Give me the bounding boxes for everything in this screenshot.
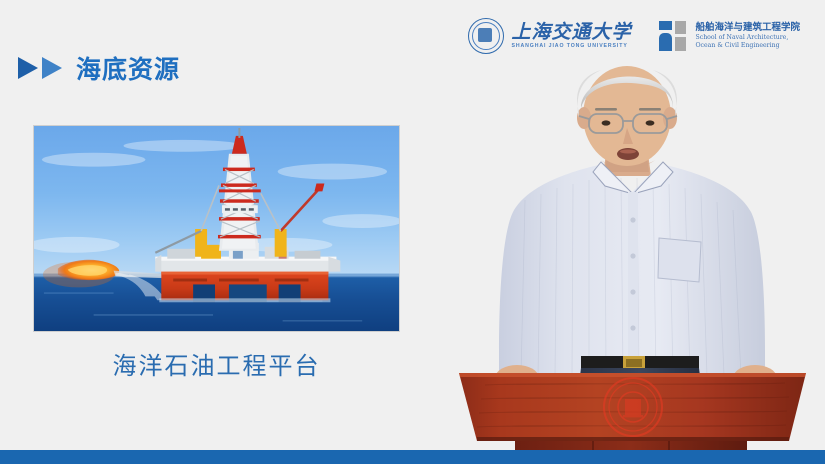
- double-triangle-icon: [18, 57, 62, 79]
- slide-title-row: 海底资源: [18, 50, 180, 86]
- school-mark-block-4: [675, 37, 686, 51]
- page-title: 海底资源: [76, 50, 180, 86]
- sjtu-seal-icon: [468, 18, 504, 54]
- school-name-cn: 船舶海洋与建筑工程学院: [695, 22, 800, 34]
- university-name-en: SHANGHAI JIAO TONG UNIVERSITY: [511, 42, 631, 50]
- university-logo-text: 上海交通大学 SHANGHAI JIAO TONG UNIVERSITY: [511, 22, 631, 50]
- triangle-icon-2: [42, 57, 62, 79]
- school-logo-text: 船舶海洋与建筑工程学院 School of Naval Architecture…: [695, 22, 800, 49]
- school-mark-block-3: [675, 21, 686, 34]
- school-mark-icon: [659, 21, 689, 51]
- university-name-cn: 上海交通大学: [511, 22, 631, 42]
- oil-platform-illustration: [34, 126, 399, 331]
- school-name-en-line2: Ocean & Civil Engineering: [695, 42, 800, 50]
- school-mark-block-2: [659, 33, 672, 51]
- school-name-en-line1: School of Naval Architecture,: [695, 34, 800, 42]
- bottom-accent-bar: [0, 450, 825, 464]
- school-logo: 船舶海洋与建筑工程学院 School of Naval Architecture…: [659, 21, 800, 51]
- university-logo: 上海交通大学 SHANGHAI JIAO TONG UNIVERSITY: [468, 18, 631, 54]
- photo-caption: 海洋石油工程平台: [33, 346, 400, 381]
- oil-platform-photo: [33, 125, 400, 332]
- school-mark-block-1: [659, 21, 672, 30]
- presenter-video-figure: [455, 60, 810, 400]
- presenter-illustration: [455, 60, 810, 400]
- slide-root: 上海交通大学 SHANGHAI JIAO TONG UNIVERSITY 船舶海…: [0, 0, 825, 464]
- triangle-icon-1: [18, 57, 38, 79]
- header-logo-bar: 上海交通大学 SHANGHAI JIAO TONG UNIVERSITY 船舶海…: [468, 18, 800, 54]
